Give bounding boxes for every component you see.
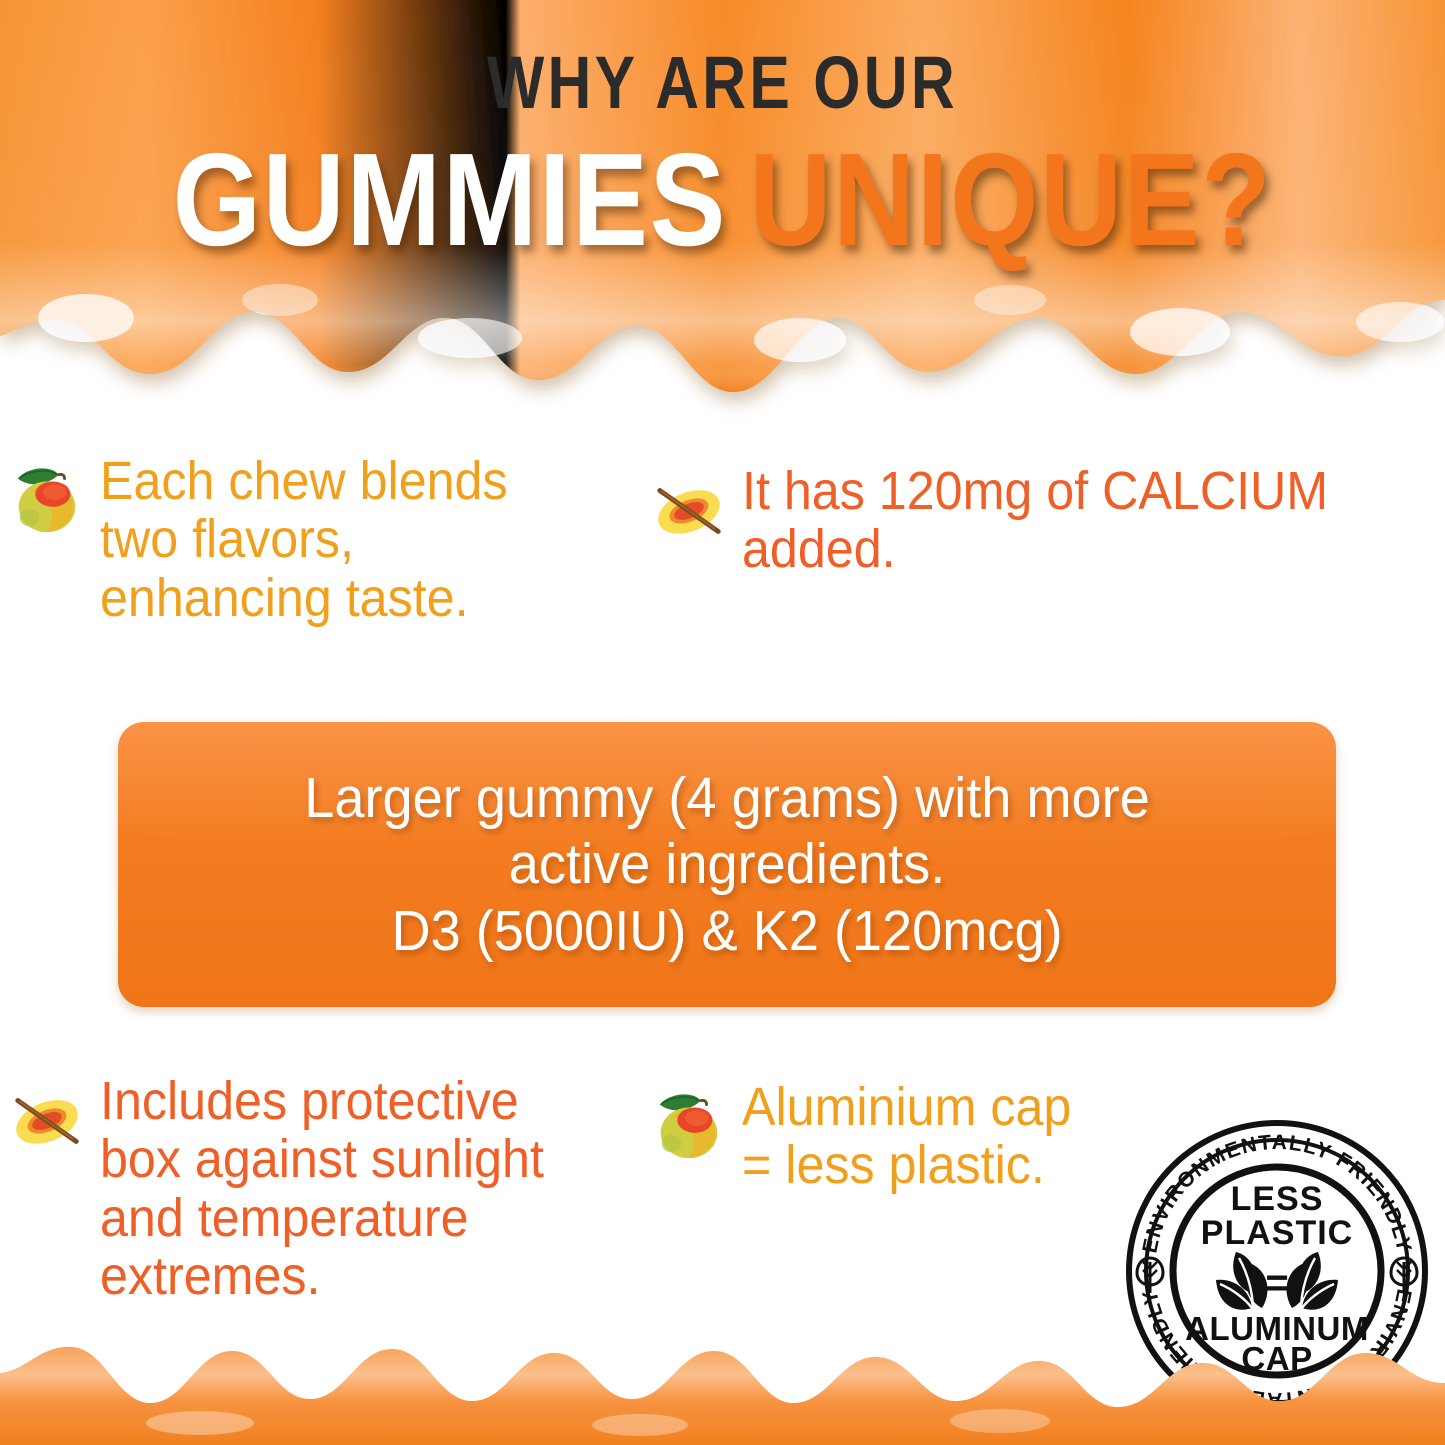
poster-canvas: WHY ARE OUR GUMMIESUNIQUE? Each chew ble… xyxy=(0,0,1445,1445)
eco-badge-less-text: LESS xyxy=(1231,1180,1324,1218)
feature-bullet-4-label: Aluminium cap = less plastic. xyxy=(742,1078,1071,1195)
header-title-block: WHY ARE OUR GUMMIESUNIQUE? xyxy=(0,0,1445,300)
feature-highlight-text: Larger gummy (4 grams) with more active … xyxy=(276,765,1179,963)
mango-sliced-icon xyxy=(650,470,728,550)
page-title-gummies: GUMMIES xyxy=(173,134,727,266)
feature-bullet-3-label: Includes protective box against sunlight… xyxy=(100,1072,544,1305)
feature-bullet-2-label: It has 120mg of CALCIUM added. xyxy=(742,462,1328,579)
mango-whole-icon xyxy=(650,1086,728,1166)
eco-badge-equals-icon: = xyxy=(1265,1261,1288,1305)
page-title-unique: UNIQUE? xyxy=(749,134,1272,266)
feature-bullet-3: Includes protective box against sunlight… xyxy=(8,1072,628,1305)
feature-highlight-box: Larger gummy (4 grams) with more active … xyxy=(118,722,1336,1007)
eco-friendly-badge: ENVIRONMENTALLY FRIENDLY ENVIRONMENTALLY… xyxy=(1124,1118,1430,1424)
eco-badge-cap-text: CAP xyxy=(1241,1340,1312,1377)
eco-badge-plastic-text: PLASTIC xyxy=(1201,1214,1353,1252)
feature-bullet-4: Aluminium cap = less plastic. xyxy=(650,1078,1120,1195)
feature-bullet-1: Each chew blends two flavors, enhancing … xyxy=(8,452,608,627)
mango-sliced-icon xyxy=(8,1080,86,1160)
feature-bullet-2: It has 120mg of CALCIUM added. xyxy=(650,462,1440,579)
feature-bullet-1-label: Each chew blends two flavors, enhancing … xyxy=(100,452,508,627)
mango-whole-icon xyxy=(8,460,86,540)
page-title-line1: WHY ARE OUR xyxy=(130,46,1315,120)
page-title-line2: GUMMIESUNIQUE? xyxy=(101,134,1344,266)
